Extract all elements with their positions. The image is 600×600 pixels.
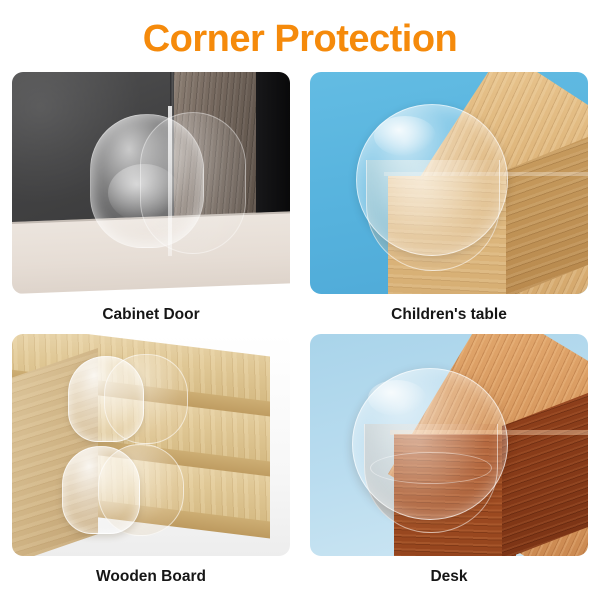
panel-caption-wooden-board: Wooden Board — [12, 567, 290, 586]
corner-guard-second-icon — [62, 446, 140, 534]
panel-childrens-table[interactable]: Children's table — [310, 72, 588, 324]
corner-guard-icon — [68, 356, 144, 442]
panel-photo-childrens-table[interactable] — [310, 72, 588, 294]
panel-photo-desk[interactable] — [310, 334, 588, 556]
panel-cabinet-door[interactable]: Cabinet Door — [12, 72, 290, 324]
corner-guard-specular-highlight — [108, 164, 180, 222]
corner-guard-specular-highlight — [368, 380, 426, 416]
corner-guard-specular-highlight — [374, 116, 436, 156]
panel-wooden-board[interactable]: Wooden Board — [12, 334, 290, 586]
page-title: Corner Protection — [0, 16, 600, 62]
panel-caption-childrens-table: Children's table — [310, 305, 588, 324]
cabinet-dark-edge — [256, 72, 290, 234]
panel-desk[interactable]: Desk — [310, 334, 588, 586]
infographic-page: Corner Protection Cabinet Door — [0, 0, 600, 600]
panel-caption-cabinet-door: Cabinet Door — [12, 305, 290, 324]
panel-grid: Cabinet Door Children's table — [12, 72, 588, 590]
panel-caption-desk: Desk — [310, 567, 588, 586]
panel-photo-wooden-board[interactable] — [12, 334, 290, 556]
corner-guard-ring-reflection — [370, 452, 492, 484]
panel-photo-cabinet-door[interactable] — [12, 72, 290, 294]
